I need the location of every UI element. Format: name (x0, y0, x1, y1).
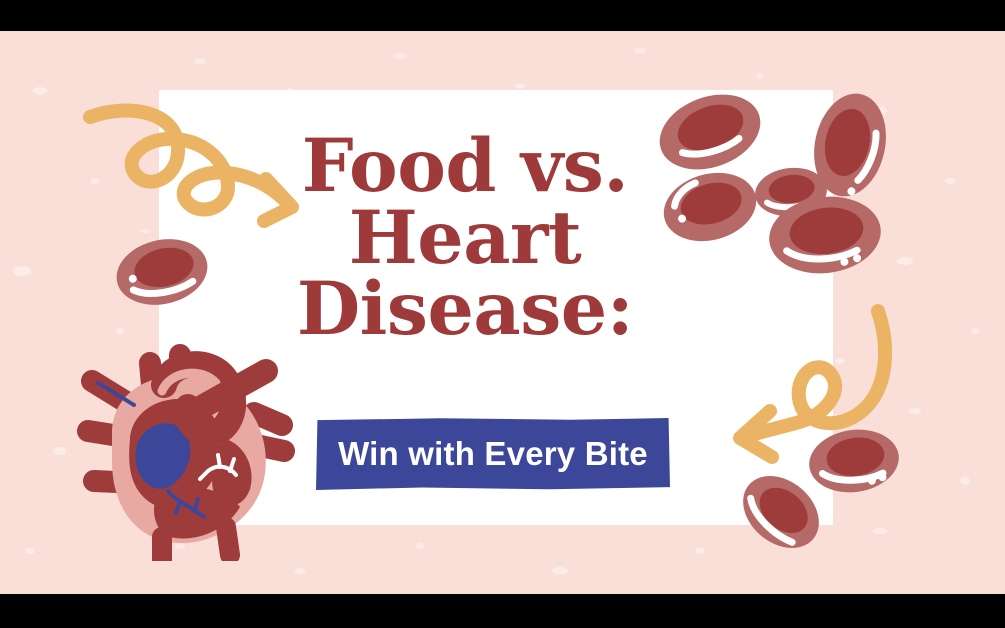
title-line-1: Food vs. (230, 131, 700, 203)
slide-background: Food vs. Heart Disease: Win with Every B… (0, 31, 1005, 594)
title-line-3: Disease: (230, 274, 700, 346)
letterbox-top (0, 0, 1005, 31)
title-line-2: Heart (230, 203, 700, 275)
slide-canvas: Food vs. Heart Disease: Win with Every B… (0, 0, 1005, 628)
letterbox-bottom (0, 594, 1005, 628)
subtitle-text: Win with Every Bite (316, 418, 670, 490)
page-title: Food vs. Heart Disease: (230, 131, 700, 346)
subtitle-banner: Win with Every Bite (316, 418, 670, 490)
